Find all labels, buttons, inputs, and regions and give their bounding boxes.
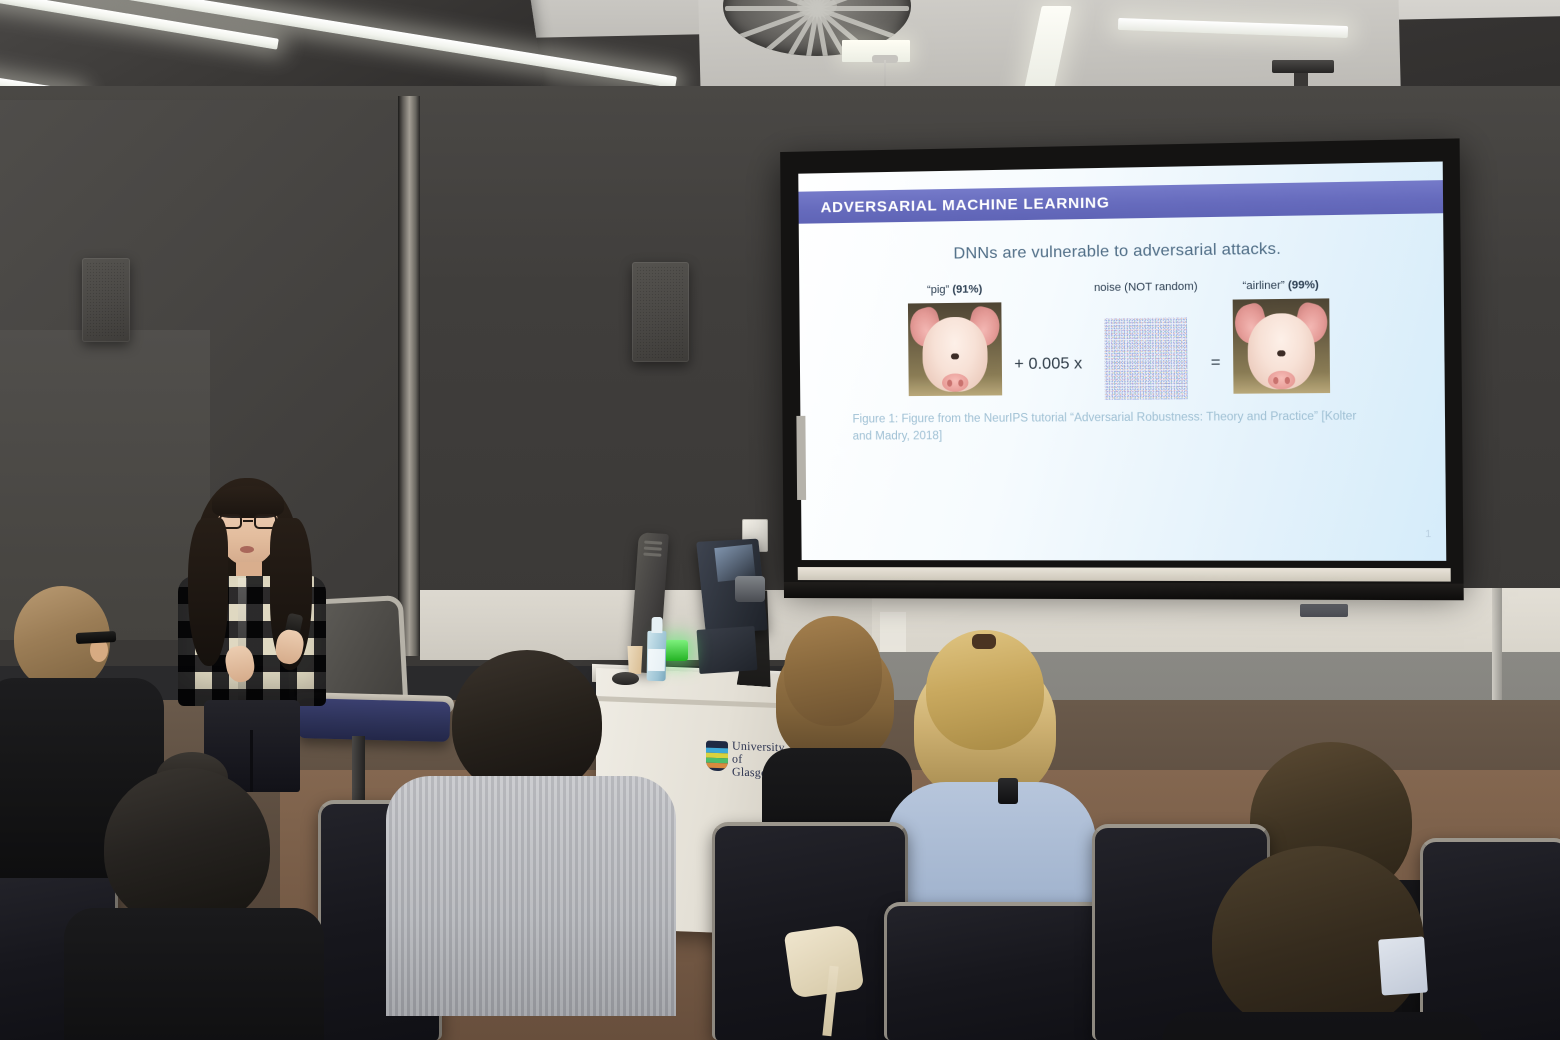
ceiling-camera-plate [1272, 60, 1334, 73]
slide-subtitle: DNNs are vulnerable to adversarial attac… [799, 238, 1444, 266]
pig-head [922, 317, 988, 392]
wall-mounted-fixture-icon [1300, 604, 1348, 617]
figure-label-pig: “pig” (91%) [927, 283, 982, 296]
figure-label-noise: noise (NOT random) [1094, 281, 1198, 295]
torso [386, 776, 676, 1016]
door-frame[interactable] [398, 96, 420, 656]
head [784, 616, 882, 726]
projected-slide: ADVERSARIAL MACHINE LEARNING DNNs are vu… [798, 161, 1446, 560]
pig-photo-adversarial [1232, 298, 1329, 393]
slide-title: ADVERSARIAL MACHINE LEARNING [798, 194, 1109, 216]
monitor-mount-bracket [735, 576, 765, 602]
pig-eye-right [1279, 350, 1285, 356]
pig-snout [942, 373, 969, 391]
pig-eye-right [953, 353, 959, 359]
figure-item-pig-original: “pig” (91%) [908, 283, 1002, 396]
presenter-hair-left-strand [188, 518, 228, 666]
pig-snout [1268, 371, 1295, 390]
screen-side-tab [796, 416, 806, 500]
presenter-mouth [240, 546, 254, 553]
audience-glasses-icon [76, 631, 117, 644]
hair-tie [972, 634, 996, 649]
laptop[interactable] [697, 626, 758, 674]
figure-operator-multiply: + 0.005 x [1002, 355, 1095, 374]
projection-screen: ADVERSARIAL MACHINE LEARNING DNNs are vu… [780, 138, 1463, 585]
university-crest-icon [706, 741, 728, 772]
shoulder-clip [998, 778, 1018, 804]
figure-item-noise: noise (NOT random) [1094, 281, 1199, 400]
head [452, 650, 602, 796]
figure-item-pig-adversarial: “airliner” (99%) [1232, 279, 1330, 394]
torso [1162, 1012, 1482, 1040]
figure-label-airliner: “airliner” (99%) [1242, 279, 1319, 292]
pig-head [1247, 313, 1315, 390]
head [926, 630, 1044, 750]
slide-page-number: 1 [1425, 529, 1431, 540]
slide-title-bar: ADVERSARIAL MACHINE LEARNING [798, 180, 1443, 224]
audience-right-back [1212, 846, 1482, 1040]
torso [64, 908, 324, 1040]
presenter-glasses-icon [218, 514, 278, 530]
wall-speaker-right-icon [632, 262, 689, 362]
presenter [170, 478, 340, 784]
head [104, 768, 270, 928]
figure-operator-equals: = [1198, 354, 1233, 373]
figure-caption: Figure 1: Figure from the NeurIPS tutori… [852, 408, 1360, 446]
audience-dark-hair-bun [104, 768, 334, 1040]
tote-bag[interactable] [784, 923, 864, 998]
slide-figure-row: “pig” (91%) + 0.005 x noise (NOT random) [799, 277, 1445, 402]
adversarial-noise-patch [1105, 317, 1189, 399]
paper-sheet [1378, 936, 1428, 995]
lecture-theatre-scene: ADVERSARIAL MACHINE LEARNING DNNs are vu… [0, 0, 1560, 1040]
pig-photo-original [908, 302, 1002, 396]
audience-grey-shirt-man [452, 650, 692, 1040]
wall-speaker-left-icon [82, 258, 130, 342]
presenter-shirt-placket [238, 578, 247, 706]
screen-bottom-bar [798, 567, 1451, 582]
